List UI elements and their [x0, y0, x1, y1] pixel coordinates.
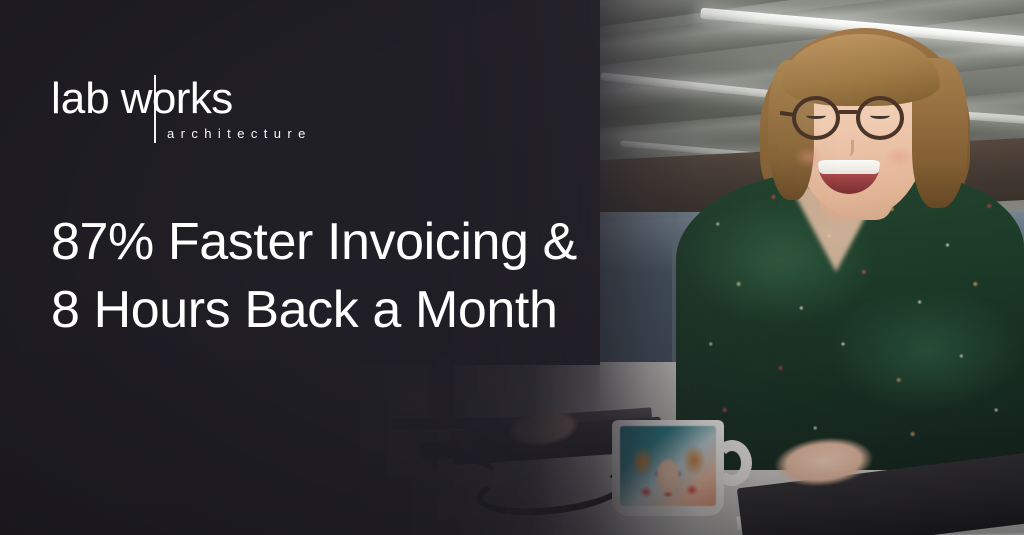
marketing-banner: labworks architecture 87% Faster Invoici…	[0, 0, 1024, 535]
headline-line-2: 8 Hours Back a Month	[51, 276, 661, 344]
headline: 87% Faster Invoicing & 8 Hours Back a Mo…	[51, 208, 661, 344]
logo-word-lab: lab	[51, 74, 110, 123]
banner-content: labworks architecture 87% Faster Invoici…	[0, 0, 1024, 535]
logo-divider-rule	[154, 75, 156, 143]
headline-line-1: 87% Faster Invoicing &	[51, 208, 661, 276]
logo-tagline: architecture	[167, 126, 312, 142]
brand-logo[interactable]: labworks architecture	[51, 76, 281, 148]
logo-wordmark: labworks	[51, 76, 281, 122]
logo-word-works: works	[121, 74, 233, 123]
